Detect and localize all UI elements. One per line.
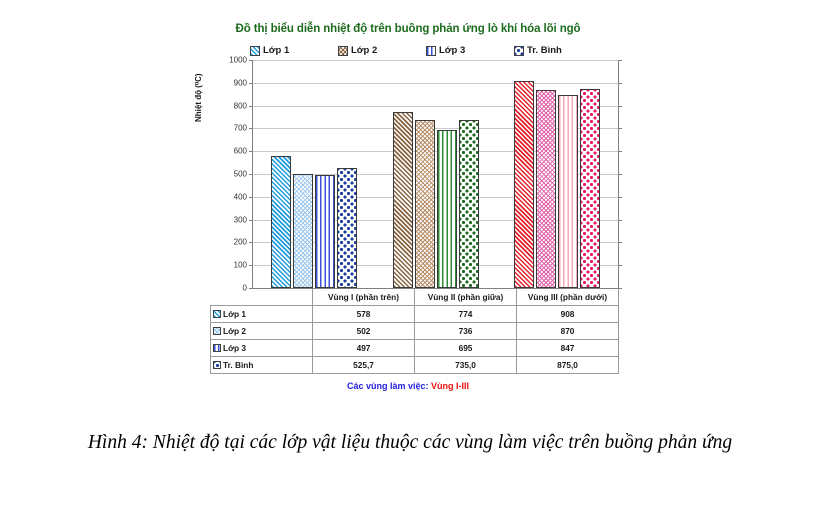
chart-data-table: Vùng I (phần trên)Vùng II (phần giữa)Vùn… <box>210 288 619 374</box>
legend-item-lop-1[interactable]: Lớp 1 <box>250 45 338 56</box>
legend-swatch-icon <box>426 46 436 56</box>
table-row-header: Lớp 3 <box>211 340 313 357</box>
table-cell: 774 <box>415 306 517 323</box>
table-row: Lớp 2502736870 <box>211 323 619 340</box>
table-series-swatch-icon <box>213 361 221 369</box>
y-tick-label: 0 <box>243 284 247 293</box>
table-cell: 870 <box>517 323 619 340</box>
table-cell: 502 <box>313 323 415 340</box>
table-row-header: Lớp 1 <box>211 306 313 323</box>
bar[interactable] <box>337 168 357 288</box>
bar[interactable] <box>558 95 578 288</box>
y-tick-label: 200 <box>234 238 247 247</box>
bar[interactable] <box>536 90 556 288</box>
bar[interactable] <box>459 120 479 288</box>
legend-label: Tr. Bình <box>527 45 562 56</box>
table-column-header: Vùng II (phần giữa) <box>415 289 517 306</box>
bar[interactable] <box>437 130 457 288</box>
y-tick-label: 400 <box>234 192 247 201</box>
y-tick-mark-right <box>618 174 622 175</box>
y-tick-label: 800 <box>234 101 247 110</box>
table-row-header: Tr. Bình <box>211 357 313 374</box>
plot-area: Nhiệt độ (⁰C) 10009008007006005004003002… <box>188 60 628 288</box>
gridline <box>253 288 618 289</box>
legend-swatch-icon <box>338 46 348 56</box>
table-cell: 736 <box>415 323 517 340</box>
figure-caption: Hình 4: Nhiệt độ tại các lớp vật liệu th… <box>30 424 790 461</box>
table-column-header: Vùng III (phần dưới) <box>517 289 619 306</box>
legend-item-lop-2[interactable]: Lớp 2 <box>338 45 426 56</box>
y-axis-ticks: 10009008007006005004003002001000 <box>210 60 252 288</box>
y-tick-mark-right <box>618 265 622 266</box>
table-corner-cell <box>211 289 313 306</box>
plot-canvas <box>252 60 619 288</box>
table-column-header: Vùng I (phần trên) <box>313 289 415 306</box>
chart-container: Đồ thị biểu diễn nhiệt độ trên buồng phả… <box>188 14 628 414</box>
y-tick-mark-right <box>618 151 622 152</box>
table-cell: 578 <box>313 306 415 323</box>
table-cell: 525,7 <box>313 357 415 374</box>
y-tick-label: 1000 <box>229 56 247 65</box>
x-axis-label-prefix: Các vùng làm việc: <box>347 381 429 391</box>
table-row-header: Lớp 2 <box>211 323 313 340</box>
table-series-swatch-icon <box>213 310 221 318</box>
legend-swatch-icon <box>514 46 524 56</box>
y-tick-label: 900 <box>234 78 247 87</box>
y-tick-mark-right <box>618 220 622 221</box>
y-tick-mark-right <box>618 128 622 129</box>
table-cell: 908 <box>517 306 619 323</box>
y-tick-label: 500 <box>234 170 247 179</box>
bar[interactable] <box>514 81 534 288</box>
x-axis-label-value: Vùng I-III <box>431 381 469 391</box>
y-axis-title: Nhiệt độ (⁰C) <box>194 73 203 122</box>
legend-label: Lớp 3 <box>439 45 465 56</box>
table-cell: 735,0 <box>415 357 517 374</box>
table-cell: 875,0 <box>517 357 619 374</box>
bar-series-container <box>253 60 618 288</box>
chart-title: Đồ thị biểu diễn nhiệt độ trên buồng phả… <box>188 14 628 37</box>
bar-group <box>496 60 618 288</box>
y-tick-mark-right <box>618 288 622 289</box>
legend-swatch-icon <box>250 46 260 56</box>
legend-item-tr-binh[interactable]: Tr. Bình <box>514 45 602 56</box>
bar-group <box>253 60 375 288</box>
x-axis-title: Các vùng làm việc: Vùng I-III <box>188 381 628 391</box>
bar[interactable] <box>271 156 291 288</box>
table-row: Lớp 1578774908 <box>211 306 619 323</box>
y-tick-mark-right <box>618 106 622 107</box>
y-tick-label: 300 <box>234 215 247 224</box>
table-row: Tr. Bình525,7735,0875,0 <box>211 357 619 374</box>
bar[interactable] <box>293 174 313 288</box>
y-tick-mark-right <box>618 60 622 61</box>
y-tick-label: 100 <box>234 261 247 270</box>
bar[interactable] <box>393 112 413 288</box>
bar[interactable] <box>315 175 335 288</box>
table-cell: 695 <box>415 340 517 357</box>
bar[interactable] <box>580 89 600 289</box>
bar[interactable] <box>415 120 435 288</box>
table-row: Lớp 3497695847 <box>211 340 619 357</box>
table-cell: 847 <box>517 340 619 357</box>
y-tick-mark <box>249 288 253 289</box>
y-tick-label: 600 <box>234 147 247 156</box>
legend-label: Lớp 1 <box>263 45 289 56</box>
y-tick-mark-right <box>618 242 622 243</box>
bar-group <box>375 60 497 288</box>
table-header-row: Vùng I (phần trên)Vùng II (phần giữa)Vùn… <box>211 289 619 306</box>
table-series-swatch-icon <box>213 344 221 352</box>
chart-legend: Lớp 1 Lớp 2 Lớp 3 Tr. Bình <box>188 45 628 56</box>
legend-label: Lớp 2 <box>351 45 377 56</box>
y-tick-mark-right <box>618 197 622 198</box>
legend-item-lop-3[interactable]: Lớp 3 <box>426 45 514 56</box>
y-tick-mark-right <box>618 83 622 84</box>
y-tick-label: 700 <box>234 124 247 133</box>
table-series-swatch-icon <box>213 327 221 335</box>
table-cell: 497 <box>313 340 415 357</box>
